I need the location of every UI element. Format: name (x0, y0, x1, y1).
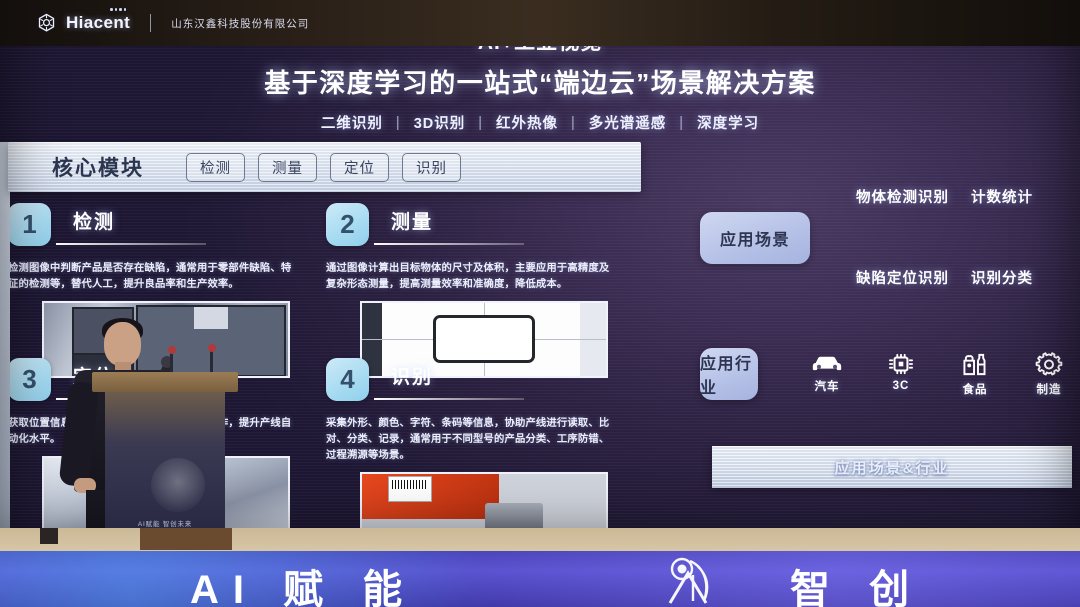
banner-right-text: 智 创 (790, 557, 923, 607)
subtitle-item-3: 多光谱遥感 (576, 112, 680, 133)
module-header: 2 测量 (326, 203, 634, 247)
scenarios-line-1: 物体检测识别 计数统计 (856, 186, 1072, 207)
podium: AI赋能 智创未来 (92, 372, 238, 542)
stage-backdrop-banner: AI 赋 能 智 创 (0, 551, 1080, 607)
subtitle-item-2: 红外热像 (483, 112, 571, 133)
slide-title-line2: 基于深度学习的一站式“端边云”场景解决方案 (0, 63, 1080, 100)
podium-mic-head-left (168, 346, 176, 354)
banner-text-row: AI 赋 能 智 创 (0, 551, 1080, 607)
chip-icon (886, 352, 916, 376)
subtitle-item-0: 二维识别 (308, 112, 396, 133)
module-number-badge: 1 (8, 203, 51, 246)
industry-icon-group: 汽车 (804, 352, 1072, 397)
brand-name: Hiacent (66, 13, 130, 32)
core-tag-locate: 定位 (330, 153, 389, 182)
brand-divider (150, 14, 151, 32)
module-card-2: 2 测量 通过图像计算出目标物体的尺寸及体积，主要应用于高精度及复杂形态测量，提… (326, 203, 634, 378)
podium-top (92, 372, 238, 392)
scenarios-row: 应用场景 物体检测识别 计数统计 缺陷定位识别 识别分类 (700, 190, 1072, 288)
module-underline (374, 398, 524, 400)
brand-lockup: Hiacent 山东汉鑫科技股份有限公司 (36, 13, 309, 34)
scenarios-pill: 应用场景 (700, 212, 810, 264)
brand-company-name: 山东汉鑫科技股份有限公司 (171, 16, 309, 31)
conference-presentation-photo: Hiacent 山东汉鑫科技股份有限公司 AI+工业视觉 基于深度学习的一站式“… (0, 0, 1080, 607)
car-icon (810, 352, 844, 374)
core-tag-detect: 检测 (186, 153, 245, 182)
module-card-4: 4 识别 采集外形、颜色、字符、条码等信息，协助产线进行读取、比对、分类、记录，… (326, 358, 634, 549)
slide-brand-bar: Hiacent 山东汉鑫科技股份有限公司 (0, 0, 1080, 46)
subtitle-separator: | (571, 115, 576, 131)
hexagon-gear-logo-icon (36, 13, 57, 34)
industries-row: 应用行业 汽车 (700, 348, 1072, 400)
scene-industry-footer-bar: 应用场景&行业 (712, 446, 1072, 488)
module-title: 测量 (391, 203, 433, 234)
podium-body: AI赋能 智创未来 (105, 392, 225, 542)
module-description: 检测图像中判断产品是否存在缺陷，通常用于零部件缺陷、特征的检测等，替代人工，提升… (8, 261, 300, 293)
module-number-badge: 2 (326, 203, 369, 246)
core-module-tags: 检测 测量 定位 识别 (186, 153, 461, 182)
banner-left-text: AI 赋 能 (190, 557, 416, 607)
core-module-bar: 核心模块 检测 测量 定位 识别 (8, 142, 641, 192)
industry-item-3c: 3C (878, 352, 924, 397)
scenarios-line-2: 缺陷定位识别 识别分类 (856, 267, 1072, 288)
subtitle-separator: | (478, 115, 483, 131)
industry-label: 汽车 (815, 378, 840, 394)
podium-caption: AI赋能 智创未来 (105, 518, 225, 528)
slide-left-strip (0, 142, 10, 533)
podium-mic-head-right (208, 344, 216, 352)
industry-label: 制造 (1037, 381, 1062, 397)
speaker-head (104, 322, 141, 366)
module-header: 4 识别 (326, 358, 634, 402)
core-module-heading: 核心模块 (52, 152, 144, 182)
module-number-badge: 3 (8, 358, 51, 401)
module-description: 采集外形、颜色、字符、条码等信息，协助产线进行读取、比对、分类、记录，通常用于不… (326, 416, 618, 464)
subtitle-separator: | (396, 115, 401, 131)
subtitle-item-1: 3D识别 (401, 112, 479, 133)
core-tag-recognize: 识别 (402, 153, 461, 182)
scenario-item-3: 识别分类 (971, 267, 1033, 288)
scenario-item-0: 物体检测识别 (856, 186, 949, 207)
subtitle-item-4: 深度学习 (684, 112, 772, 133)
core-tag-measure: 测量 (258, 153, 317, 182)
scenarios-text-group: 物体检测识别 计数统计 缺陷定位识别 识别分类 (856, 190, 1072, 288)
module-number-badge: 4 (326, 358, 369, 401)
module-description: 通过图像计算出目标物体的尺寸及体积，主要应用于高精度及复杂形态测量，提高测量效率… (326, 261, 618, 293)
module-title: 识别 (391, 358, 433, 389)
gear-icon (1035, 352, 1063, 377)
industry-label: 食品 (963, 381, 988, 397)
industry-item-manufacturing: 制造 (1026, 352, 1072, 397)
food-bottle-icon (960, 352, 990, 377)
industry-item-food: 食品 (952, 352, 998, 397)
scenario-item-2: 缺陷定位识别 (856, 267, 949, 288)
conference-emblem-icon (660, 553, 726, 607)
industry-item-car: 汽车 (804, 352, 850, 397)
module-underline (56, 243, 206, 245)
industry-label: 3C (893, 380, 910, 392)
module-title: 检测 (73, 203, 115, 234)
conference-emblem-icon (151, 458, 205, 512)
scenario-item-1: 计数统计 (971, 186, 1033, 207)
footer-bar-label: 应用场景&行业 (835, 457, 950, 478)
floor-crate (140, 528, 232, 550)
slide-subtitle-row: 二维识别 | 3D识别 | 红外热像 | 多光谱遥感 | 深度学习 (0, 112, 1080, 133)
subtitle-separator: | (679, 115, 684, 131)
floor-person-feet (40, 528, 58, 544)
module-underline (374, 243, 524, 245)
right-column: 应用场景 物体检测识别 计数统计 缺陷定位识别 识别分类 应用行业 (700, 190, 1072, 400)
brand-dots-icon (110, 8, 126, 11)
industries-pill: 应用行业 (700, 348, 758, 400)
module-header: 1 检测 (8, 203, 316, 247)
